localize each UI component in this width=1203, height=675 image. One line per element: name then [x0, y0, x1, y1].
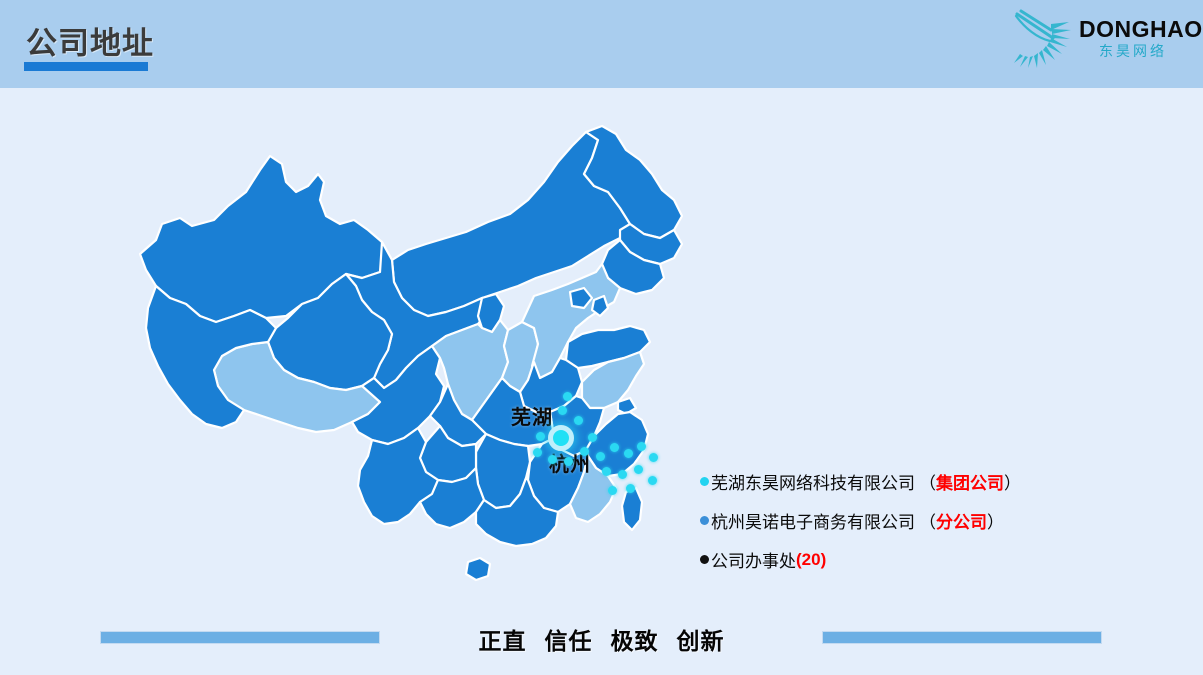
legend-item-branch-company: 杭州昊诺电子商务有限公司 （分公司） [700, 501, 1030, 540]
province-tianjin [592, 296, 608, 316]
slogan-word: 极致 [611, 628, 659, 654]
office-marker-dot[interactable] [649, 453, 658, 462]
legend-bullet-icon [700, 555, 709, 564]
office-marker-dot[interactable] [618, 470, 627, 479]
legend: 芜湖东昊网络科技有限公司 （集团公司） 杭州昊诺电子商务有限公司 （分公司） 公… [700, 462, 1030, 579]
province-hainan [466, 558, 490, 580]
office-marker-dot[interactable] [580, 447, 589, 456]
legend-office-count: (20) [796, 550, 826, 570]
legend-bullet-icon [700, 516, 709, 525]
legend-tag-group-company: （集团公司） [919, 469, 1021, 494]
office-marker-dot[interactable] [626, 484, 635, 493]
legend-label-branch-company: 杭州昊诺电子商务有限公司 [711, 508, 915, 533]
office-marker-dot[interactable] [588, 433, 597, 442]
logo-text: DONGHAO 东昊网络 [1079, 16, 1187, 60]
china-map-svg [96, 120, 696, 615]
fan-wing-logo-icon [1007, 8, 1079, 72]
office-marker-dot[interactable] [610, 443, 619, 452]
legend-paren-open: （ [919, 513, 936, 532]
office-marker-dot[interactable] [624, 449, 633, 458]
office-marker-dot[interactable] [563, 392, 572, 401]
office-marker-dot[interactable] [637, 442, 646, 451]
legend-item-group-company: 芜湖东昊网络科技有限公司 （集团公司） [700, 462, 1030, 501]
company-logo: DONGHAO 东昊网络 [1007, 8, 1187, 74]
legend-tag-text: 集团公司 [936, 474, 1004, 493]
china-map: 芜湖 杭州 [96, 120, 696, 615]
legend-paren-close: ） [1004, 474, 1021, 493]
legend-item-offices: 公司办事处 (20) [700, 540, 1030, 579]
office-marker-dot[interactable] [648, 476, 657, 485]
office-marker-dot[interactable] [596, 452, 605, 461]
legend-tag-branch-company: （分公司） [919, 508, 1004, 533]
legend-tag-text: 分公司 [936, 513, 987, 532]
logo-english-name: DONGHAO [1079, 16, 1187, 42]
office-marker-dot[interactable] [548, 455, 557, 464]
office-marker-dot[interactable] [608, 486, 617, 495]
slogan-word: 正直 [479, 628, 527, 654]
footer-slogan: 正直信任极致创新 [0, 622, 1203, 656]
slogan-word: 信任 [545, 628, 593, 654]
legend-paren-open: （ [919, 474, 936, 493]
office-marker-dot[interactable] [634, 465, 643, 474]
legend-label-offices: 公司办事处 [711, 547, 796, 572]
province-taiwan [622, 488, 642, 530]
office-marker-dot[interactable] [602, 467, 611, 476]
office-marker-dot[interactable] [536, 432, 545, 441]
page-header: 公司地址 [0, 0, 1203, 88]
title-underline [24, 62, 148, 71]
legend-paren-close: ） [987, 513, 1004, 532]
logo-chinese-name: 东昊网络 [1079, 42, 1187, 60]
office-marker-dot[interactable] [574, 416, 583, 425]
legend-bullet-icon [700, 477, 709, 486]
office-marker-dot[interactable] [564, 457, 573, 466]
office-marker-dot[interactable] [558, 406, 567, 415]
office-marker-dot[interactable] [533, 448, 542, 457]
slogan-word: 创新 [677, 628, 725, 654]
legend-label-group-company: 芜湖东昊网络科技有限公司 [711, 469, 915, 494]
page-title: 公司地址 [26, 18, 154, 63]
city-label-wuhu: 芜湖 [511, 401, 553, 430]
wuhu-headquarters-marker[interactable] [548, 425, 574, 451]
